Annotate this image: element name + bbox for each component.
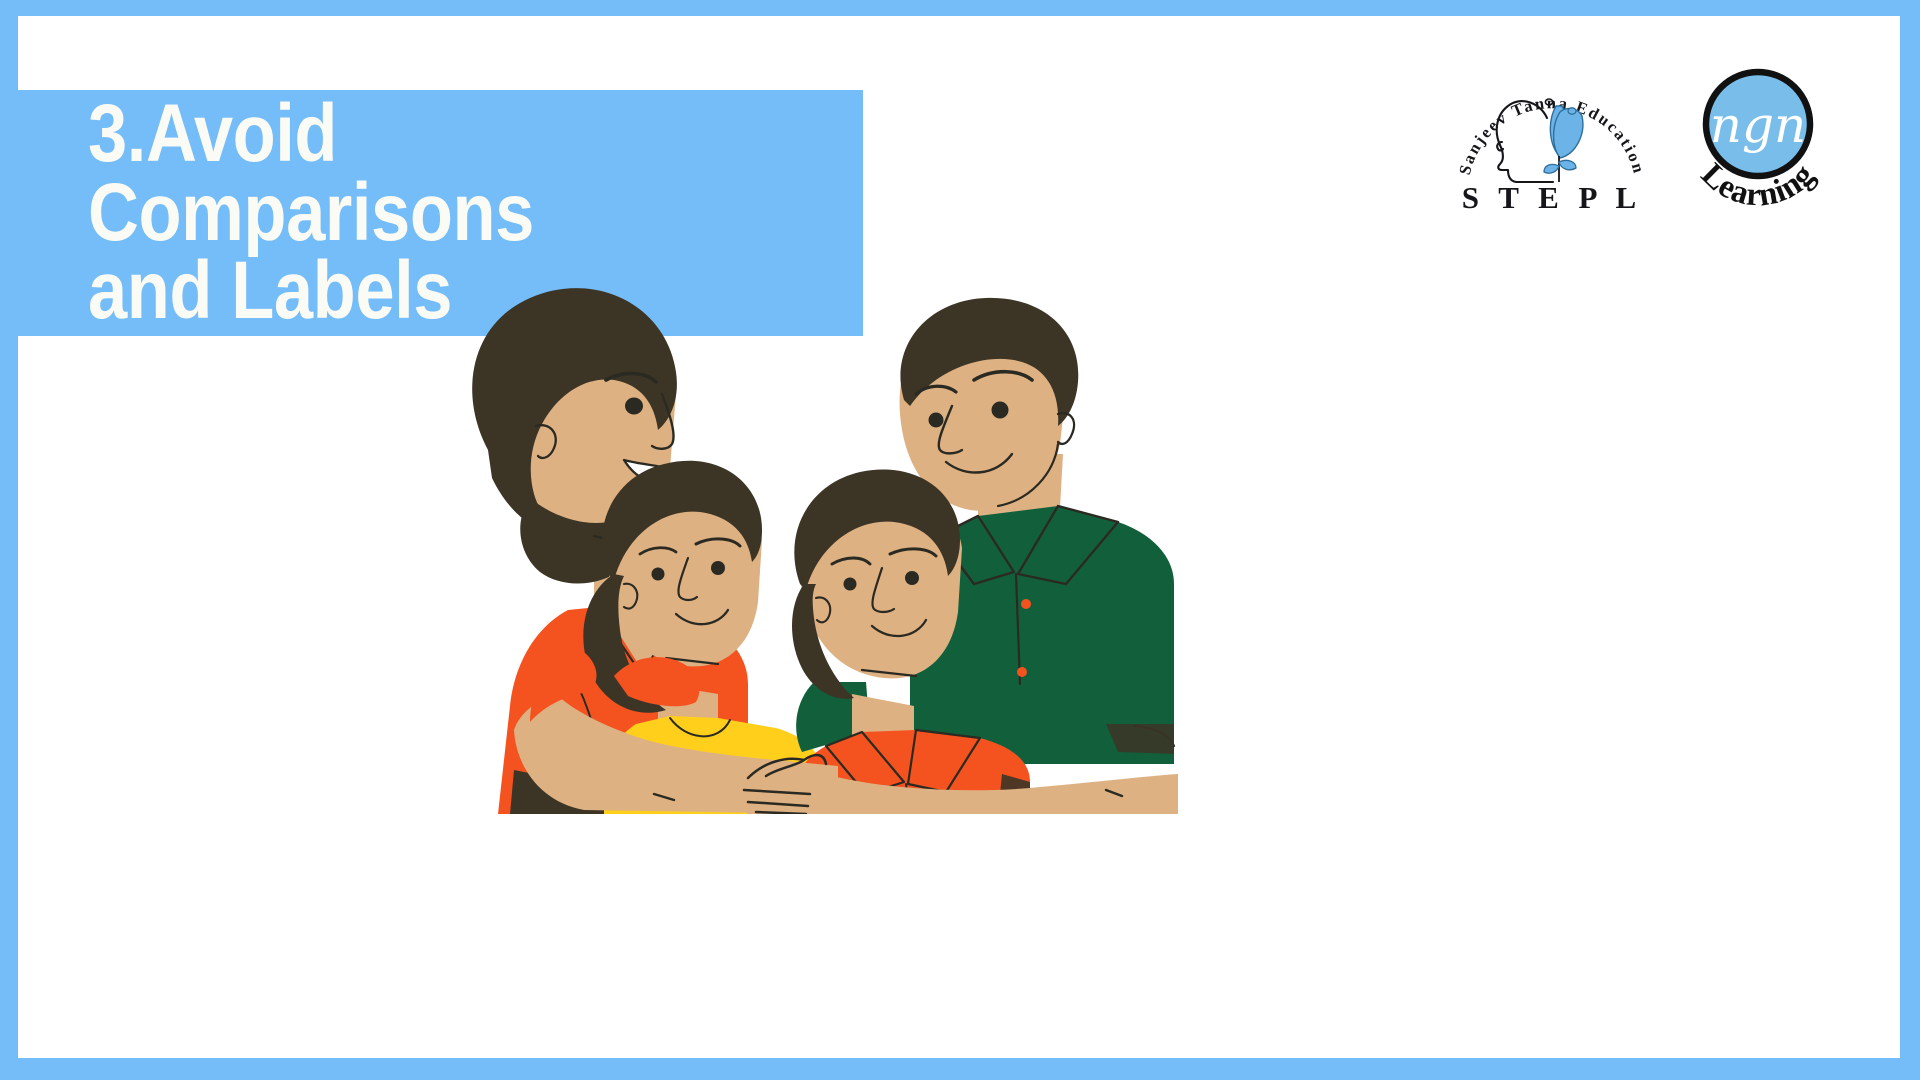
shirt-button xyxy=(1021,599,1031,609)
stepl-wordmark: S T E P L xyxy=(1462,180,1642,212)
logo-strip: Sanjeev Tanna Education xyxy=(1452,62,1838,212)
family-illustration xyxy=(418,254,1178,814)
slide-canvas: 3.Avoid Comparisons and Labels Sanjeev T… xyxy=(18,16,1900,1058)
ngn-script-text: ngn xyxy=(1710,96,1806,154)
shirt-button xyxy=(1017,667,1027,677)
ngn-learning-logo: ngn Learning xyxy=(1678,62,1838,212)
stepl-logo: Sanjeev Tanna Education xyxy=(1452,62,1652,212)
slide-frame: 3.Avoid Comparisons and Labels Sanjeev T… xyxy=(0,0,1920,1080)
